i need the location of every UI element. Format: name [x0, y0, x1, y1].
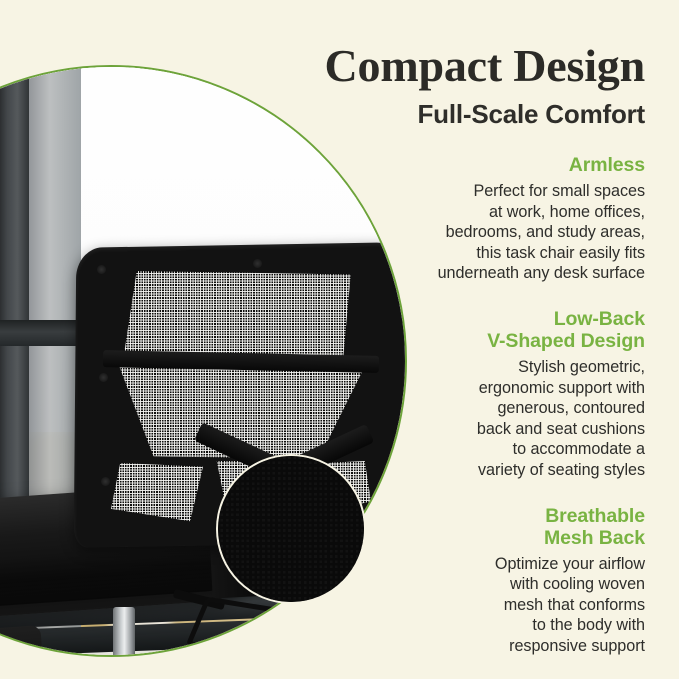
product-feature-page: Compact Design Full-Scale Comfort Armles…	[0, 0, 679, 679]
page-title: Compact Design	[245, 40, 645, 92]
feature-title-line: Mesh Back	[544, 527, 645, 549]
feature-line: variety of seating styles	[245, 460, 645, 481]
chair-gas-cylinder	[113, 607, 135, 655]
feature-text-column: Compact Design Full-Scale Comfort Armles…	[245, 40, 645, 657]
feature-line: Optimize your airflow	[245, 554, 645, 575]
feature-line: underneath any desk surface	[245, 263, 645, 284]
chair-frame-screw	[97, 265, 106, 274]
feature-line: back and seat cushions	[245, 419, 645, 440]
feature-title-line: Low-Back	[554, 308, 645, 330]
chair-adjustment-knob	[0, 625, 46, 655]
feature-line: bedrooms, and study areas,	[245, 222, 645, 243]
feature-title-line: V-Shaped Design	[487, 330, 645, 352]
feature-line: with cooling woven	[245, 574, 645, 595]
feature-line: to accommodate a	[245, 439, 645, 460]
feature-line: generous, contoured	[245, 398, 645, 419]
feature-low-back-v-shaped: Low-Back V-Shaped Design Stylish geometr…	[245, 308, 645, 481]
chair-frame-screw	[99, 373, 108, 382]
feature-line: to the body with	[245, 615, 645, 636]
feature-low-back-title: Low-Back V-Shaped Design	[245, 308, 645, 352]
feature-line: at work, home offices,	[245, 202, 645, 223]
page-subtitle: Full-Scale Comfort	[245, 98, 645, 130]
feature-line: Perfect for small spaces	[245, 181, 645, 202]
feature-low-back-body: Stylish geometric, ergonomic support wit…	[245, 357, 645, 481]
feature-mesh-back-title: Breathable Mesh Back	[245, 505, 645, 549]
feature-breathable-mesh-back: Breathable Mesh Back Optimize your airfl…	[245, 505, 645, 657]
feature-mesh-back-body: Optimize your airflow with cooling woven…	[245, 554, 645, 657]
feature-line: mesh that conforms	[245, 595, 645, 616]
feature-armless: Armless Perfect for small spaces at work…	[245, 154, 645, 284]
feature-armless-body: Perfect for small spaces at work, home o…	[245, 181, 645, 284]
feature-line: this task chair easily fits	[245, 243, 645, 264]
feature-line: Stylish geometric,	[245, 357, 645, 378]
feature-title-line: Breathable	[545, 505, 645, 527]
chair-frame-screw	[101, 477, 110, 486]
feature-line: ergonomic support with	[245, 378, 645, 399]
feature-armless-title: Armless	[245, 154, 645, 176]
feature-line: responsive support	[245, 636, 645, 657]
